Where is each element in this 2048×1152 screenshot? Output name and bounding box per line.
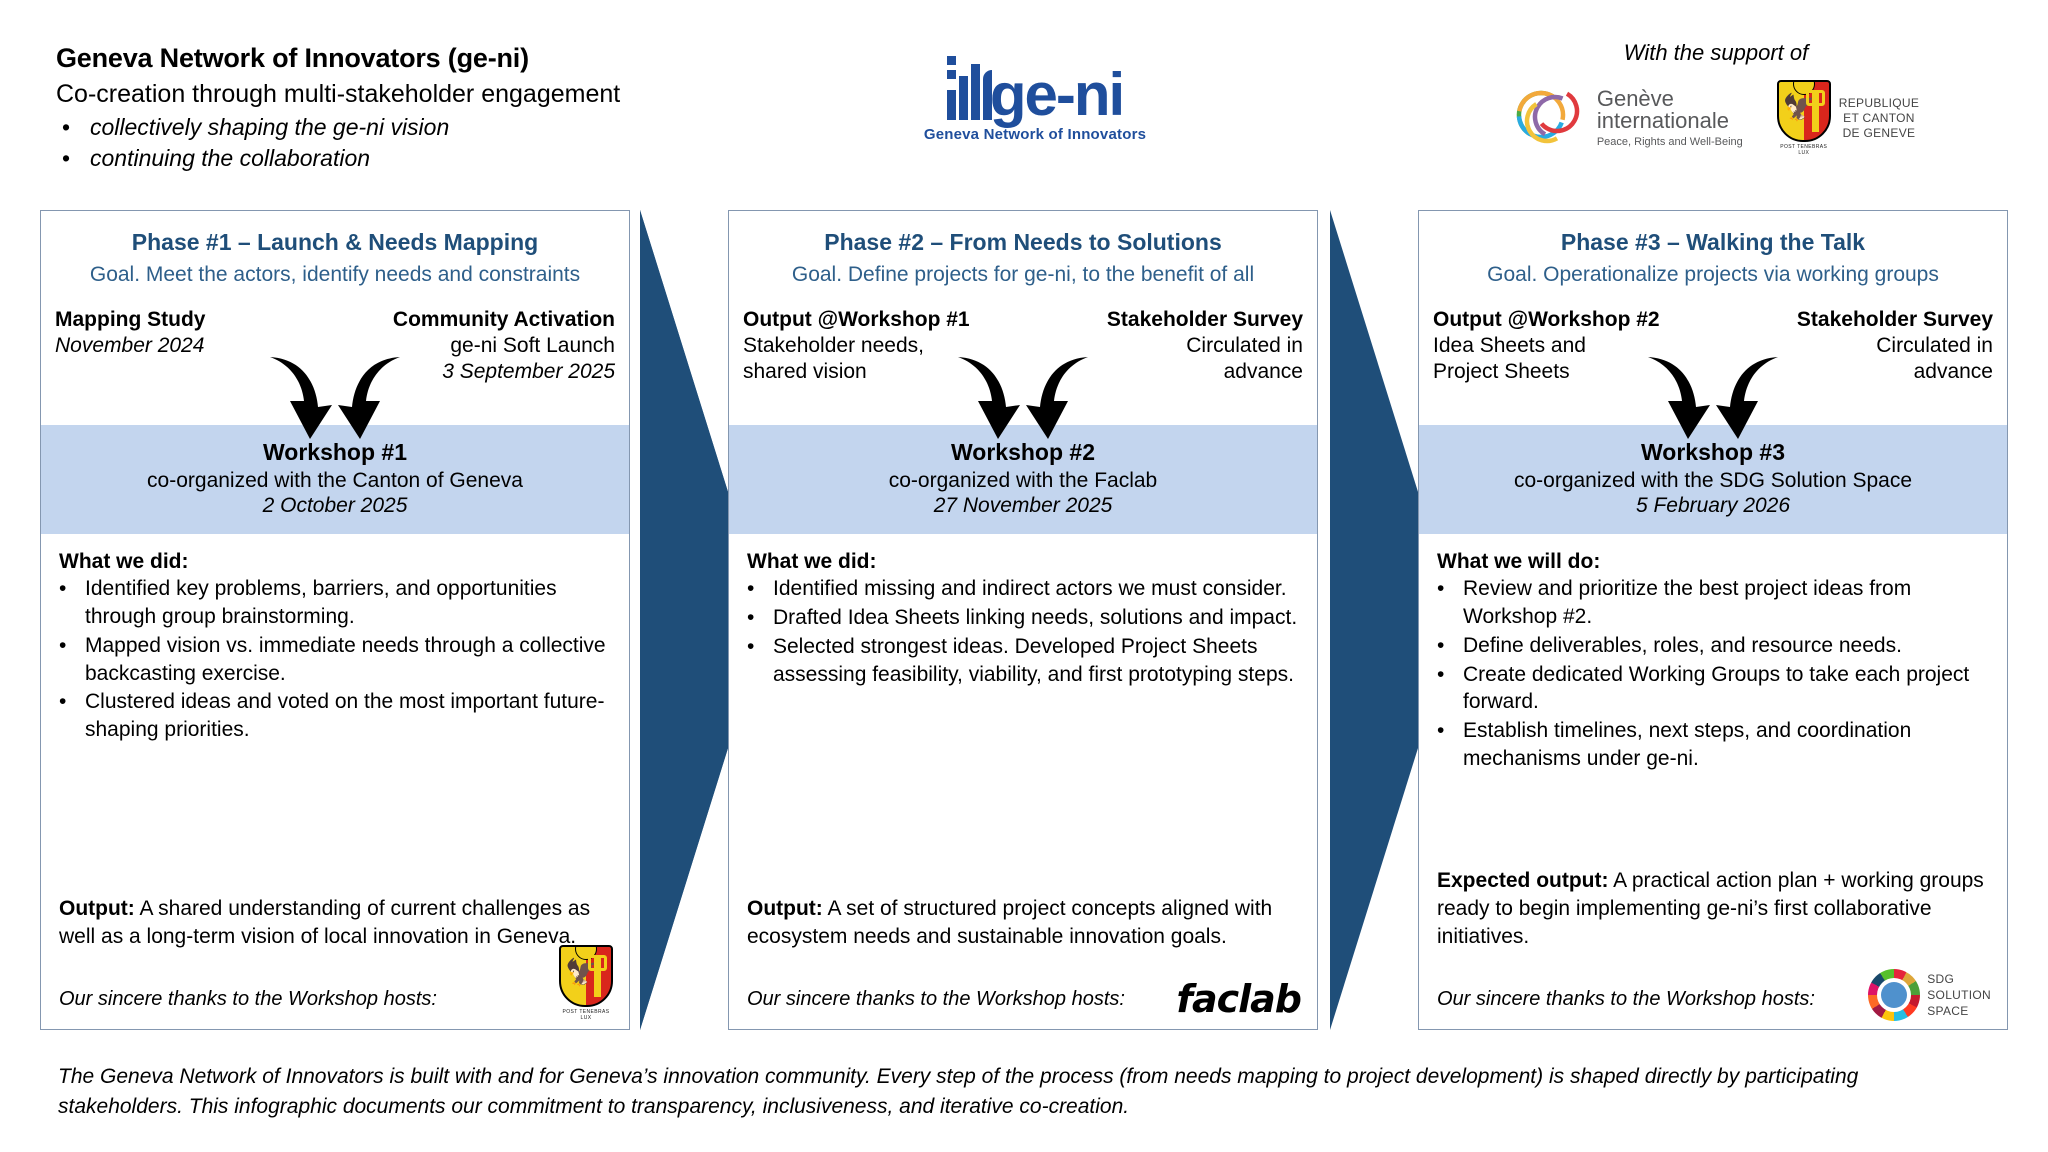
list-item: •Identified missing and indirect actors … <box>747 575 1299 603</box>
converging-arrows-icon <box>260 349 410 439</box>
list-item-label: Review and prioritize the best project i… <box>1463 575 1989 631</box>
phase-3-output: Expected output: A practical action plan… <box>1437 867 1989 951</box>
converging-arrows-icon <box>948 349 1098 439</box>
input-heading: Output @Workshop #2 <box>1433 307 1688 333</box>
phase-3-goal: Goal. Operationalize projects via workin… <box>1431 262 1995 287</box>
sdg-wordmark: SDG SOLUTION SPACE <box>1927 971 1991 1020</box>
bullet-marker-icon: • <box>747 604 773 632</box>
list-item-label: Selected strongest ideas. Developed Proj… <box>773 633 1299 689</box>
input-heading: Mapping Study <box>55 307 310 333</box>
page-subtitle: Co-creation through multi-stakeholder en… <box>56 78 756 111</box>
canton-crest-icon: 🦅 POST TENEBRAS LUX <box>1777 80 1831 156</box>
phase-1-body: What we did: •Identified key problems, b… <box>41 534 629 1029</box>
workshop-date: 27 November 2025 <box>739 494 1307 518</box>
support-label: With the support of <box>1436 40 1996 66</box>
phase-1-title: Phase #1 – Launch & Needs Mapping <box>53 229 617 257</box>
list-item: •Clustered ideas and voted on the most i… <box>59 688 611 744</box>
bullet-marker-icon: • <box>747 575 773 603</box>
workshop-date: 5 February 2026 <box>1429 494 1997 518</box>
bullet-marker-icon: • <box>1437 632 1463 660</box>
input-heading: Output @Workshop #1 <box>743 307 998 333</box>
workshop-date: 2 October 2025 <box>51 494 619 518</box>
bullet-marker-icon: • <box>59 632 85 688</box>
header-bullet-item: • continuing the collaboration <box>56 143 756 174</box>
phase-3-thanks: Our sincere thanks to the Workshop hosts… <box>1437 988 1815 1011</box>
list-item: •Create dedicated Working Groups to take… <box>1437 661 1989 717</box>
phase-2-host-logo: faclab <box>1176 977 1301 1021</box>
workshop-subtitle: co-organized with the Faclab <box>739 469 1307 493</box>
list-item-label: Clustered ideas and voted on the most im… <box>85 688 611 744</box>
list-item-label: Drafted Idea Sheets linking needs, solut… <box>773 604 1299 632</box>
canton-line-1: REPUBLIQUE <box>1839 96 1919 111</box>
phase-2-goal: Goal. Define projects for ge-ni, to the … <box>741 262 1305 287</box>
geni-wordmark-label: ge-ni <box>990 69 1123 120</box>
canton-line-2: ET CANTON <box>1839 111 1919 126</box>
bullet-marker-icon: • <box>56 112 90 143</box>
canton-motto: POST TENEBRAS LUX <box>1777 144 1831 156</box>
bullet-marker-icon: • <box>1437 717 1463 773</box>
workshop-subtitle: co-organized with the Canton of Geneva <box>51 469 619 493</box>
phase-card-1: Phase #1 – Launch & Needs Mapping Goal. … <box>40 210 630 1030</box>
gi-line-1: Genève <box>1597 88 1743 110</box>
canton-de-geneve-logo: 🦅 POST TENEBRAS LUX REPUBLIQUE ET CANTON… <box>1777 80 1919 156</box>
geni-logo: ge-ni Geneva Network of Innovators <box>905 48 1165 143</box>
workshop-title: Workshop #1 <box>51 439 619 466</box>
body-heading: What we will do: <box>1437 550 1989 574</box>
phase-2-inputs: Output @Workshop #1 Stakeholder needs, s… <box>729 307 1317 425</box>
phase-3-host-logo: SDG SOLUTION SPACE <box>1868 969 1991 1021</box>
list-item-label: Mapped vision vs. immediate needs throug… <box>85 632 611 688</box>
workshop-title: Workshop #3 <box>1429 439 1997 466</box>
list-item: •Review and prioritize the best project … <box>1437 575 1989 631</box>
phase-2-thanks: Our sincere thanks to the Workshop hosts… <box>747 988 1125 1011</box>
phase-1-workshop-band: Workshop #1 co-organized with the Canton… <box>41 425 629 534</box>
output-text: A set of structured project concepts ali… <box>747 897 1272 948</box>
body-heading: What we did: <box>747 550 1299 574</box>
converging-arrows-icon <box>1638 349 1788 439</box>
sdg-line-3: SPACE <box>1927 1003 1991 1019</box>
canton-line-3: DE GENEVE <box>1839 126 1919 141</box>
phase-1-host-logo: 🦅 POST TENEBRAS LUX <box>559 945 613 1021</box>
phase-card-3: Phase #3 – Walking the Talk Goal. Operat… <box>1418 210 2008 1030</box>
output-text: A shared understanding of current challe… <box>59 897 590 948</box>
support-block: With the support of Genève international <box>1436 40 1996 156</box>
phase-2-title: Phase #2 – From Needs to Solutions <box>741 229 1305 257</box>
geneve-internationale-rings-icon <box>1513 81 1587 155</box>
gi-line-2: internationale <box>1597 110 1743 132</box>
header-bullet-label: continuing the collaboration <box>90 143 370 174</box>
phase-1-goal: Goal. Meet the actors, identify needs an… <box>53 262 617 287</box>
header-bullet-list: • collectively shaping the ge-ni vision … <box>56 112 756 174</box>
list-item-label: Define deliverables, roles, and resource… <box>1463 632 1989 660</box>
list-item: •Define deliverables, roles, and resourc… <box>1437 632 1989 660</box>
workshop-title: Workshop #2 <box>739 439 1307 466</box>
phase-1-output: Output: A shared understanding of curren… <box>59 895 611 951</box>
input-heading: Stakeholder Survey <box>1048 307 1303 333</box>
geni-skyline-icon <box>947 52 992 120</box>
geni-tagline: Geneva Network of Innovators <box>905 126 1165 143</box>
canton-de-geneve-crest-icon: 🦅 POST TENEBRAS LUX <box>559 945 613 1021</box>
bullet-marker-icon: • <box>1437 575 1463 631</box>
gi-tagline: Peace, Rights and Well-Being <box>1597 136 1743 148</box>
header-bullet-label: collectively shaping the ge-ni vision <box>90 112 449 143</box>
sdg-line-2: SOLUTION <box>1927 987 1991 1003</box>
bullet-marker-icon: • <box>747 633 773 689</box>
canton-motto: POST TENEBRAS LUX <box>559 1009 613 1021</box>
bullet-marker-icon: • <box>59 688 85 744</box>
canton-wordmark: REPUBLIQUE ET CANTON DE GENEVE <box>1839 96 1919 141</box>
geni-wordmark: ge-ni <box>905 48 1165 120</box>
geneve-internationale-logo: Genève internationale Peace, Rights and … <box>1513 81 1743 155</box>
list-item-label: Identified missing and indirect actors w… <box>773 575 1299 603</box>
phase-3-inputs: Output @Workshop #2 Idea Sheets and Proj… <box>1419 307 2007 425</box>
sdg-line-1: SDG <box>1927 971 1991 987</box>
header-bullet-item: • collectively shaping the ge-ni vision <box>56 112 756 143</box>
sdg-solution-space-logo: SDG SOLUTION SPACE <box>1868 969 1991 1021</box>
output-label: Expected output: <box>1437 869 1609 892</box>
list-item: •Selected strongest ideas. Developed Pro… <box>747 633 1299 689</box>
list-item: •Establish timelines, next steps, and co… <box>1437 717 1989 773</box>
phase-3-title: Phase #3 – Walking the Talk <box>1431 229 1995 257</box>
list-item: •Drafted Idea Sheets linking needs, solu… <box>747 604 1299 632</box>
page-title: Geneva Network of Innovators (ge-ni) <box>56 42 756 76</box>
phase-3-bullet-list: •Review and prioritize the best project … <box>1437 575 1989 773</box>
phase-2-header: Phase #2 – From Needs to Solutions Goal.… <box>729 211 1317 291</box>
output-label: Output: <box>747 897 823 920</box>
geneve-internationale-text: Genève internationale Peace, Rights and … <box>1597 88 1743 149</box>
input-heading: Stakeholder Survey <box>1738 307 1993 333</box>
input-heading: Community Activation <box>360 307 615 333</box>
footer-note: The Geneva Network of Innovators is buil… <box>58 1062 1988 1123</box>
phase-card-2: Phase #2 – From Needs to Solutions Goal.… <box>728 210 1318 1030</box>
header-text-block: Geneva Network of Innovators (ge-ni) Co-… <box>56 42 756 174</box>
list-item-label: Establish timelines, next steps, and coo… <box>1463 717 1989 773</box>
list-item: •Identified key problems, barriers, and … <box>59 575 611 631</box>
bullet-marker-icon: • <box>1437 661 1463 717</box>
bullet-marker-icon: • <box>56 143 90 174</box>
workshop-subtitle: co-organized with the SDG Solution Space <box>1429 469 1997 493</box>
phase-2-workshop-band: Workshop #2 co-organized with the Faclab… <box>729 425 1317 534</box>
phase-3-header: Phase #3 – Walking the Talk Goal. Operat… <box>1419 211 2007 291</box>
phase-1-inputs: Mapping Study November 2024 Community Ac… <box>41 307 629 425</box>
list-item-label: Create dedicated Working Groups to take … <box>1463 661 1989 717</box>
sdg-wheel-icon <box>1868 969 1920 1021</box>
phase-1-header: Phase #1 – Launch & Needs Mapping Goal. … <box>41 211 629 291</box>
phase-1-thanks: Our sincere thanks to the Workshop hosts… <box>59 988 437 1011</box>
phase-1-bullet-list: •Identified key problems, barriers, and … <box>59 575 611 745</box>
phase-3-body: What we will do: •Review and prioritize … <box>1419 534 2007 1029</box>
phase-2-bullet-list: •Identified missing and indirect actors … <box>747 575 1299 689</box>
faclab-logo: faclab <box>1176 977 1301 1021</box>
support-logos: Genève internationale Peace, Rights and … <box>1436 80 1996 156</box>
output-label: Output: <box>59 897 135 920</box>
infographic-page: Geneva Network of Innovators (ge-ni) Co-… <box>0 0 2048 1152</box>
list-item: •Mapped vision vs. immediate needs throu… <box>59 632 611 688</box>
phase-2-output: Output: A set of structured project conc… <box>747 895 1299 951</box>
body-heading: What we did: <box>59 550 611 574</box>
phase-2-body: What we did: •Identified missing and ind… <box>729 534 1317 1029</box>
phases-container: Phase #1 – Launch & Needs Mapping Goal. … <box>40 210 2008 1030</box>
phase-3-workshop-band: Workshop #3 co-organized with the SDG So… <box>1419 425 2007 534</box>
bullet-marker-icon: • <box>59 575 85 631</box>
list-item-label: Identified key problems, barriers, and o… <box>85 575 611 631</box>
